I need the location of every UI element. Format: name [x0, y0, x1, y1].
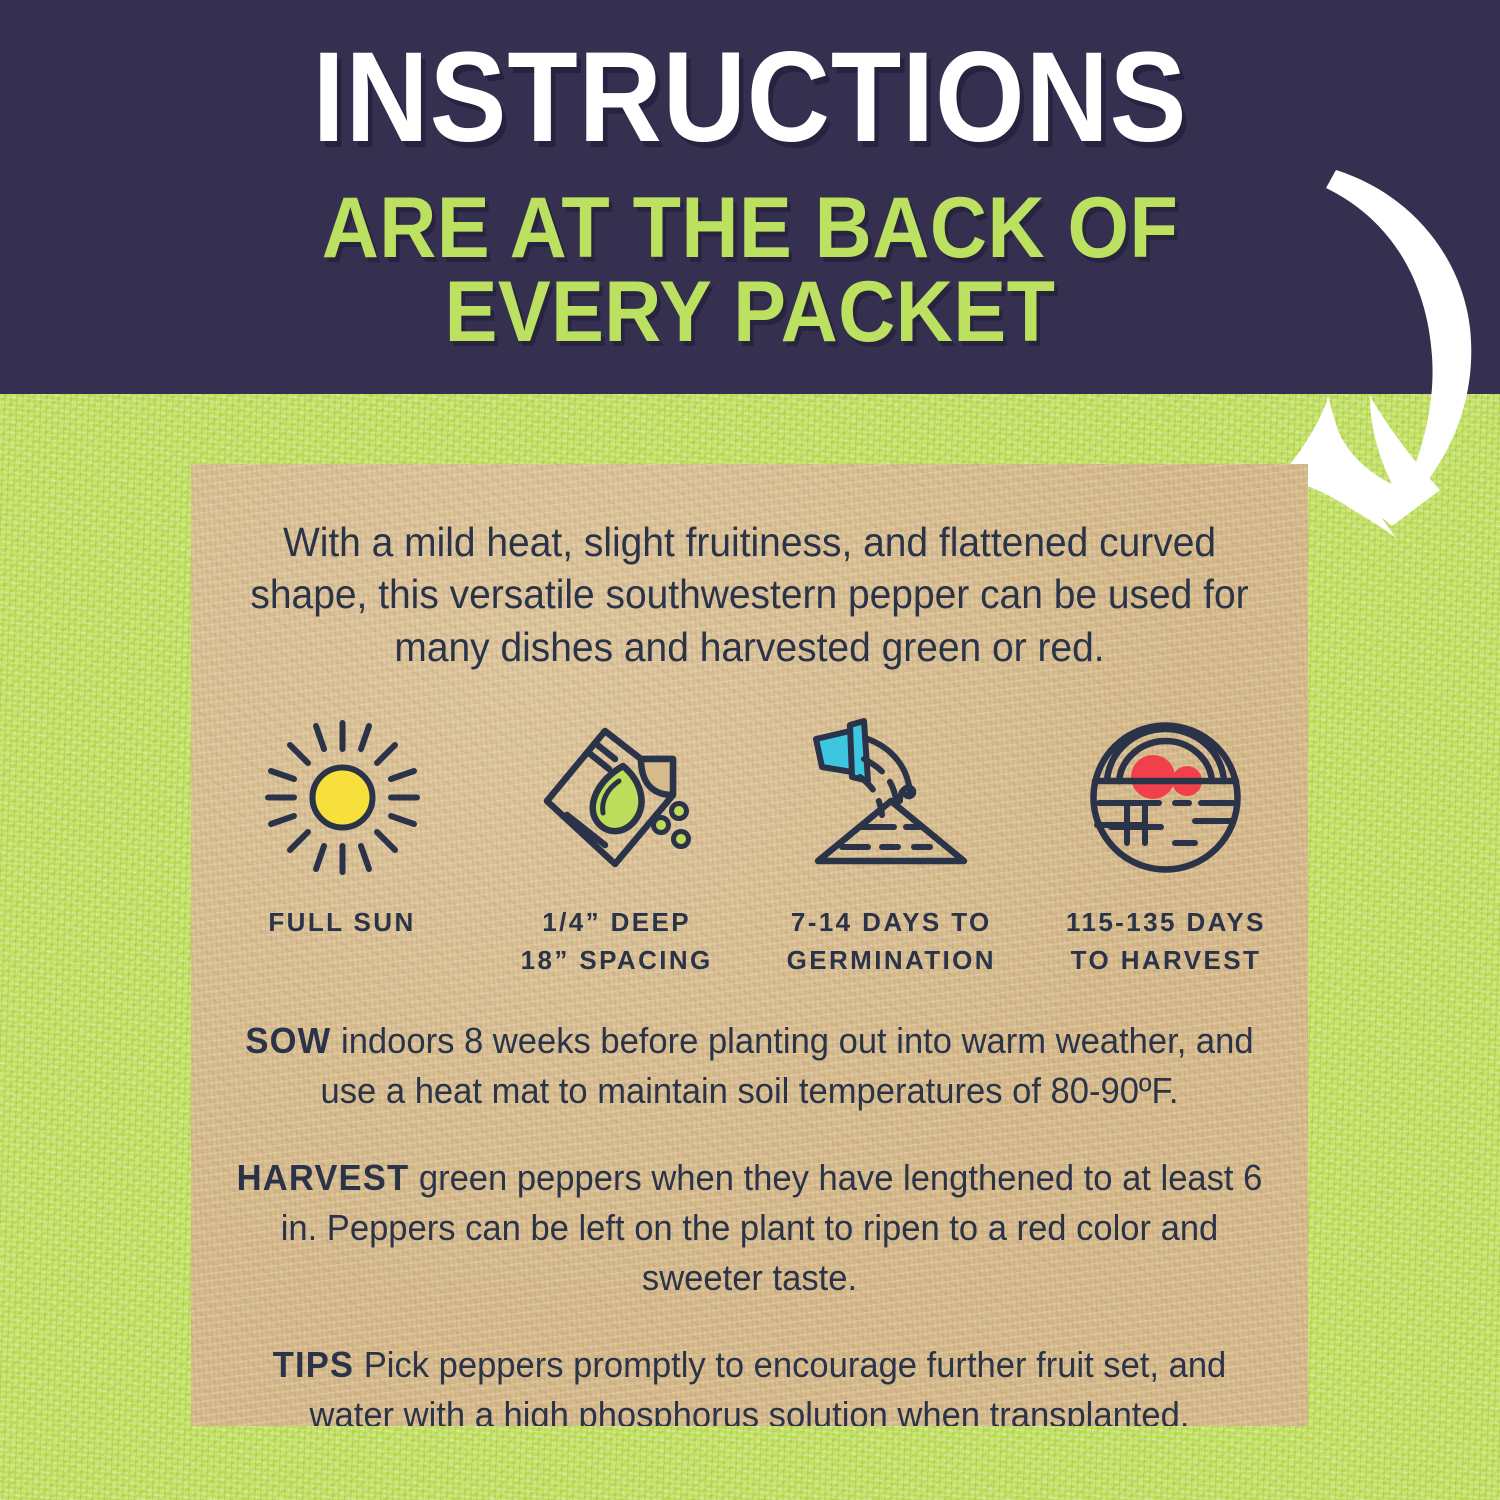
instructions-panel: With a mild heat, slight fruitiness, and… — [191, 464, 1308, 1426]
info-label-line-1: 1/4” DEEP — [521, 904, 713, 942]
info-label-line-2: TO HARVEST — [1066, 942, 1266, 980]
growing-info-icon-row: FULL SUN — [209, 712, 1299, 979]
instruction-blocks: SOW indoors 8 weeks before planting out … — [205, 1016, 1294, 1426]
instruction-block-harvest: HARVEST green peppers when they have len… — [227, 1153, 1272, 1302]
watering-can-soil-mound-icon — [802, 712, 980, 882]
intro-paragraph: With a mild heat, slight fruitiness, and… — [228, 516, 1270, 673]
info-item-full-sun: FULL SUN — [209, 712, 475, 942]
info-label-harvest: 115-135 DAYS TO HARVEST — [1066, 904, 1266, 979]
info-item-harvest: 115-135 DAYS TO HARVEST — [1033, 712, 1299, 979]
info-label-line-1: FULL SUN — [268, 904, 415, 942]
page-subtitle: ARE AT THE BACK OF EVERY PACKET — [60, 186, 1440, 355]
info-item-depth-spacing: 1/4” DEEP 18” SPACING — [484, 712, 750, 979]
instruction-keyword-tips: TIPS — [273, 1344, 354, 1385]
header-band: INSTRUCTIONS ARE AT THE BACK OF EVERY PA… — [0, 0, 1500, 394]
page-subtitle-line-1: ARE AT THE BACK OF — [60, 186, 1440, 270]
info-label-line-2: 18” SPACING — [521, 942, 713, 980]
info-label-line-1: 7-14 DAYS TO — [787, 904, 996, 942]
instruction-text-tips: Pick peppers promptly to encourage furth… — [310, 1344, 1227, 1426]
instruction-text-harvest: green peppers when they have lengthened … — [281, 1157, 1263, 1297]
page-title: INSTRUCTIONS — [75, 34, 1425, 162]
seed-packet-icon — [531, 712, 703, 882]
info-label-line-2: GERMINATION — [787, 942, 996, 980]
info-label-germination: 7-14 DAYS TO GERMINATION — [787, 904, 996, 979]
info-label-line-1: 115-135 DAYS — [1066, 904, 1266, 942]
harvest-basket-icon — [1083, 712, 1248, 882]
info-label-depth-spacing: 1/4” DEEP 18” SPACING — [521, 904, 713, 979]
instruction-keyword-sow: SOW — [245, 1020, 331, 1061]
instruction-text-sow: indoors 8 weeks before planting out into… — [321, 1020, 1254, 1111]
info-item-germination: 7-14 DAYS TO GERMINATION — [758, 712, 1024, 979]
infographic-root: INSTRUCTIONS ARE AT THE BACK OF EVERY PA… — [0, 0, 1500, 1500]
sun-icon — [260, 712, 425, 882]
instruction-keyword-harvest: HARVEST — [237, 1157, 410, 1198]
page-subtitle-line-2: EVERY PACKET — [60, 270, 1440, 354]
info-label-full-sun: FULL SUN — [268, 904, 415, 942]
instruction-block-tips: TIPS Pick peppers promptly to encourage … — [227, 1340, 1272, 1426]
instruction-block-sow: SOW indoors 8 weeks before planting out … — [227, 1016, 1272, 1115]
